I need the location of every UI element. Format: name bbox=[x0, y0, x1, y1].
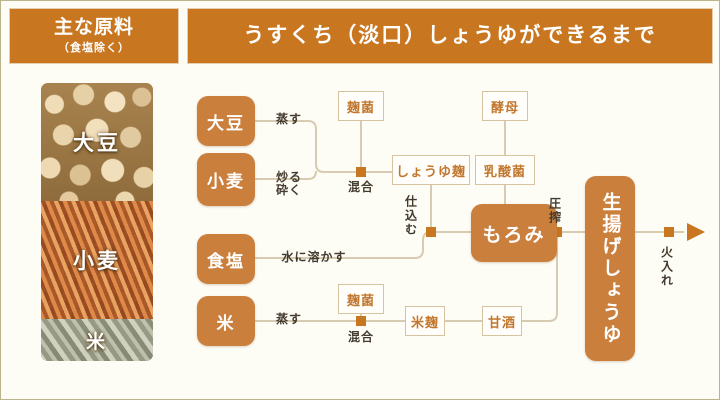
infographic-page: 主な原料 （食塩除く） うすくち（淡口）しょうゆができるまで 大豆 小麦 米 bbox=[0, 0, 720, 400]
wire-soy-to-mix bbox=[254, 121, 357, 172]
node-rice[interactable]: 米 bbox=[197, 296, 255, 346]
node-salt-label: 食塩 bbox=[207, 247, 245, 272]
photo-rice-caption: 米 bbox=[86, 327, 108, 354]
node-koji-mold-bottom[interactable]: 麹菌 bbox=[338, 284, 384, 314]
node-kiage-shoyu[interactable]: 生揚げしょうゆ bbox=[585, 176, 635, 361]
photo-wheat-caption: 小麦 bbox=[73, 245, 121, 275]
node-salt[interactable]: 食塩 bbox=[197, 234, 255, 284]
node-yeast[interactable]: 酵母 bbox=[482, 91, 528, 121]
node-amazake[interactable]: 甘酒 bbox=[482, 306, 522, 336]
node-koji-mold-top-label: 麹菌 bbox=[347, 97, 375, 116]
node-shoyu-koji[interactable]: しょうゆ麹 bbox=[392, 155, 470, 185]
label-shikomu: 仕込む bbox=[403, 193, 416, 239]
node-wheat[interactable]: 小麦 bbox=[197, 153, 255, 206]
junction-hiire bbox=[664, 227, 674, 237]
node-amazake-label: 甘酒 bbox=[488, 312, 516, 331]
label-assaku: 圧搾 bbox=[547, 195, 560, 227]
node-kiage-shoyu-label: 生揚げしょうゆ bbox=[601, 192, 620, 346]
label-hiire: 火入れ bbox=[659, 243, 672, 291]
node-wheat-label: 小麦 bbox=[207, 167, 245, 192]
label-dissolve-salt: 水に溶かす bbox=[269, 251, 359, 264]
node-lactic-bacteria[interactable]: 乳酸菌 bbox=[475, 155, 535, 185]
node-rice-label: 米 bbox=[217, 309, 236, 334]
output-arrow-icon bbox=[687, 223, 705, 241]
node-kome-koji[interactable]: 米麹 bbox=[405, 306, 445, 336]
node-soybean-label: 大豆 bbox=[207, 109, 245, 134]
node-moromi[interactable]: もろみ bbox=[471, 204, 557, 262]
node-moromi-label: もろみ bbox=[482, 220, 545, 247]
label-mix-bottom: 混合 bbox=[341, 331, 381, 344]
process-flow-diagram: 大豆 小麦 食塩 米 麹菌 酵母 乳酸菌 しょうゆ麹 麹菌 米麹 甘 bbox=[1, 1, 720, 400]
junction-shikomu bbox=[426, 227, 436, 237]
node-soybean[interactable]: 大豆 bbox=[197, 96, 255, 146]
label-steam-soy: 蒸す bbox=[269, 113, 309, 126]
photo-soybean-caption: 大豆 bbox=[73, 127, 121, 157]
node-kome-koji-label: 米麹 bbox=[411, 312, 439, 331]
node-yeast-label: 酵母 bbox=[491, 97, 519, 116]
node-lactic-bacteria-label: 乳酸菌 bbox=[484, 161, 526, 180]
label-mix-top: 混合 bbox=[341, 181, 381, 194]
node-koji-mold-top[interactable]: 麹菌 bbox=[338, 91, 384, 121]
node-shoyu-koji-label: しょうゆ麹 bbox=[396, 161, 466, 180]
junction-mix-top bbox=[356, 167, 366, 177]
label-roast-crush-wheat: 炒る 砕く bbox=[269, 171, 309, 198]
node-koji-mold-bottom-label: 麹菌 bbox=[347, 290, 375, 309]
label-steam-rice: 蒸す bbox=[269, 313, 309, 326]
junction-mix-bottom bbox=[356, 316, 366, 326]
